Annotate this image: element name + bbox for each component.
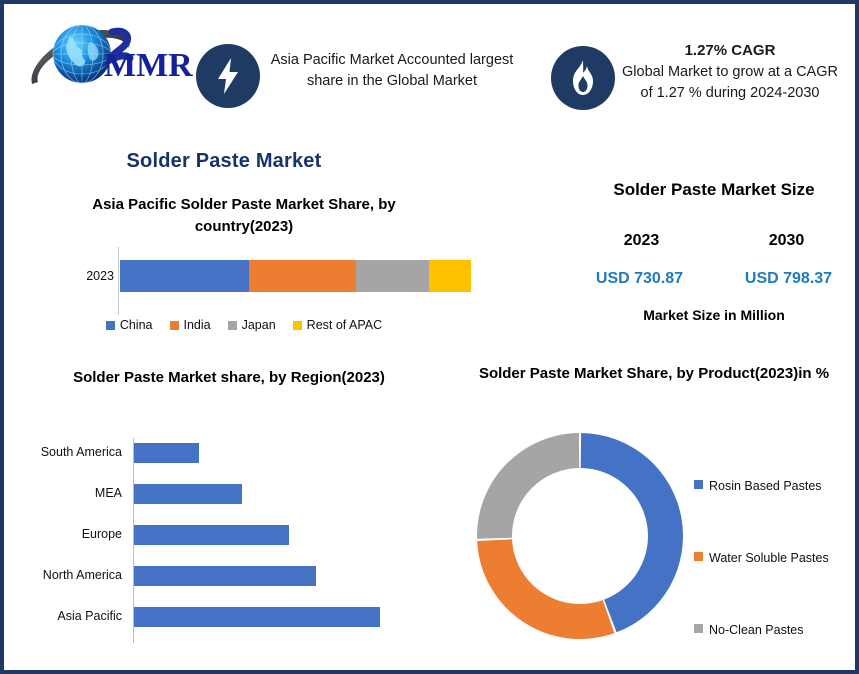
- region-chart-bar: [134, 607, 380, 627]
- legend-swatch-icon: [106, 321, 115, 330]
- legend-item: India: [170, 318, 211, 332]
- infographic-frame: MMR Asia Pacific Market Accounted larges…: [0, 0, 859, 674]
- logo-text: MMR: [104, 47, 193, 84]
- market-size-unit-label: Market Size in Million: [569, 307, 859, 323]
- region-chart-category-label: North America: [4, 568, 122, 582]
- region-chart-bar: [134, 525, 289, 545]
- region-chart-row: Asia Pacific: [4, 598, 444, 639]
- product-chart-legend: Rosin Based PastesWater Soluble PastesNo…: [694, 476, 859, 666]
- region-chart-row: North America: [4, 557, 444, 598]
- region-chart-category-label: Europe: [4, 527, 122, 541]
- legend-swatch-icon: [694, 552, 703, 561]
- region-chart: South AmericaMEAEuropeNorth AmericaAsia …: [4, 434, 444, 649]
- region-chart-category-label: Asia Pacific: [4, 609, 122, 623]
- page-title: Solder Paste Market: [64, 150, 384, 173]
- legend-label: Japan: [242, 318, 276, 332]
- region-chart-title: Solder Paste Market share, by Region(202…: [29, 367, 429, 389]
- legend-swatch-icon: [694, 624, 703, 633]
- header-left-callout-text: Asia Pacific Market Accounted largest sh…: [267, 50, 517, 92]
- region-chart-bar: [134, 484, 242, 504]
- legend-label: Rosin Based Pastes: [709, 476, 822, 497]
- region-chart-bar: [134, 566, 316, 586]
- legend-item: No-Clean Pastes: [694, 620, 804, 641]
- legend-item: Rest of APAC: [293, 318, 383, 332]
- apac-chart-legend: ChinaIndiaJapanRest of APAC: [34, 318, 454, 332]
- market-size-value-2030: USD 798.37: [745, 270, 832, 288]
- product-donut-chart: Rosin Based Pastes: 44.4%Water Soluble P…: [472, 428, 688, 644]
- mmr-globe-logo: MMR: [26, 18, 196, 98]
- legend-label: Water Soluble Pastes: [709, 548, 829, 569]
- legend-label: No-Clean Pastes: [709, 620, 804, 641]
- market-size-year-2030: 2030: [769, 232, 805, 250]
- region-chart-category-label: MEA: [4, 486, 122, 500]
- legend-swatch-icon: [170, 321, 179, 330]
- apac-country-chart: 2023: [34, 247, 454, 315]
- stacked-bar-segment: [249, 260, 356, 292]
- stacked-bar-segment: [356, 260, 429, 292]
- market-size-year-2023: 2023: [624, 232, 660, 250]
- apac-chart-category-label: 2023: [62, 269, 114, 283]
- region-chart-bar: [134, 443, 199, 463]
- header-right-callout: 1.27% CAGR Global Market to grow at a CA…: [619, 40, 841, 104]
- legend-swatch-icon: [293, 321, 302, 330]
- market-size-title: Solder Paste Market Size: [569, 180, 859, 200]
- legend-item: China: [106, 318, 153, 332]
- donut-segment: Water Soluble Pastes: 30%: [477, 539, 614, 639]
- donut-segment: No-Clean Pastes: 25.6%: [477, 433, 579, 539]
- stacked-bar-segment: [120, 260, 249, 292]
- region-chart-row: Europe: [4, 516, 444, 557]
- product-chart-title: Solder Paste Market Share, by Product(20…: [474, 362, 834, 385]
- legend-swatch-icon: [694, 480, 703, 489]
- legend-label: India: [184, 318, 211, 332]
- legend-label: China: [120, 318, 153, 332]
- legend-swatch-icon: [228, 321, 237, 330]
- stacked-bar-segment: [429, 260, 471, 292]
- cagr-value: 1.27% CAGR: [619, 40, 841, 61]
- market-size-value-2023: USD 730.87: [596, 270, 683, 288]
- cagr-description: Global Market to grow at a CAGR of 1.27 …: [619, 62, 841, 104]
- legend-item: Rosin Based Pastes: [694, 476, 822, 497]
- region-chart-category-label: South America: [4, 445, 122, 459]
- lightning-bolt-icon: [196, 44, 260, 108]
- market-size-years: 2023 2030: [569, 232, 859, 250]
- legend-item: Water Soluble Pastes: [694, 548, 829, 569]
- legend-item: Japan: [228, 318, 276, 332]
- flame-icon: [551, 46, 615, 110]
- legend-label: Rest of APAC: [307, 318, 383, 332]
- apac-country-chart-title: Asia Pacific Solder Paste Market Share, …: [44, 194, 444, 238]
- region-chart-row: MEA: [4, 475, 444, 516]
- stacked-bar: [120, 260, 471, 292]
- chart-axis-line: [118, 247, 119, 315]
- market-size-values: USD 730.87 USD 798.37: [565, 270, 859, 288]
- region-chart-row: South America: [4, 434, 444, 475]
